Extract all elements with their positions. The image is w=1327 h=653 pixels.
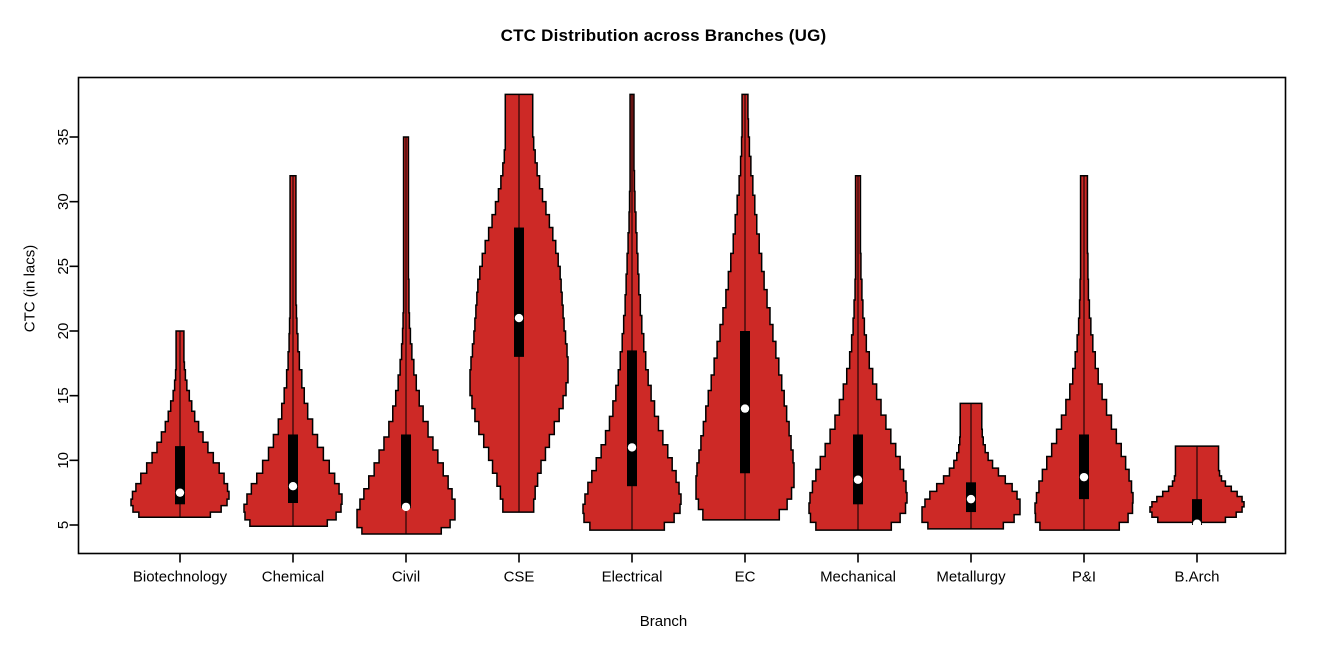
iqr-box xyxy=(288,434,298,503)
x-tick-label-ec: EC xyxy=(735,569,756,586)
median-marker xyxy=(289,482,297,490)
violin-mechanical[interactable] xyxy=(809,176,907,530)
x-tick-label-mechanical: Mechanical xyxy=(820,569,896,586)
violin-b-arch[interactable] xyxy=(1150,446,1244,528)
x-tick-label-biotechnology: Biotechnology xyxy=(133,569,228,586)
violin-ec[interactable] xyxy=(696,94,794,520)
violin-civil[interactable] xyxy=(357,137,455,534)
violin-cse[interactable] xyxy=(470,94,568,512)
y-tick-label: 5 xyxy=(55,521,72,529)
y-tick-label: 15 xyxy=(55,387,72,404)
violins-group xyxy=(131,94,1244,534)
x-tick-label-p-i: P&I xyxy=(1072,569,1096,586)
x-axis: BiotechnologyChemicalCivilCSEElectricalE… xyxy=(133,554,1220,586)
y-tick-label: 30 xyxy=(55,193,72,210)
iqr-box xyxy=(627,350,637,486)
median-marker xyxy=(1080,473,1088,481)
iqr-box xyxy=(853,434,863,504)
median-marker xyxy=(967,495,975,503)
violin-metallurgy[interactable] xyxy=(922,403,1020,528)
median-marker xyxy=(1193,520,1201,528)
x-tick-label-chemical: Chemical xyxy=(262,569,325,586)
x-tick-label-metallurgy: Metallurgy xyxy=(936,569,1006,586)
iqr-box xyxy=(514,228,524,357)
median-marker xyxy=(402,503,410,511)
violin-chart: 5101520253035 BiotechnologyChemicalCivil… xyxy=(0,0,1327,653)
x-tick-label-cse: CSE xyxy=(504,569,535,586)
x-tick-label-electrical: Electrical xyxy=(602,569,663,586)
x-tick-label-civil: Civil xyxy=(392,569,420,586)
median-marker xyxy=(741,404,749,412)
y-tick-label: 25 xyxy=(55,258,72,275)
violin-electrical[interactable] xyxy=(583,94,681,530)
violin-chemical[interactable] xyxy=(244,176,342,526)
y-tick-label: 20 xyxy=(55,323,72,340)
y-axis: 5101520253035 xyxy=(55,129,79,530)
median-marker xyxy=(515,314,523,322)
iqr-box xyxy=(1079,434,1089,499)
x-tick-label-b-arch: B.Arch xyxy=(1174,569,1219,586)
x-axis-label: Branch xyxy=(0,613,1327,630)
median-marker xyxy=(854,476,862,484)
iqr-box xyxy=(740,331,750,473)
violin-plot-page: CTC Distribution across Branches (UG) CT… xyxy=(0,0,1327,653)
iqr-box xyxy=(401,434,411,508)
median-marker xyxy=(176,488,184,496)
violin-p-i[interactable] xyxy=(1035,176,1133,530)
violin-biotechnology[interactable] xyxy=(131,331,229,517)
median-marker xyxy=(628,443,636,451)
y-tick-label: 10 xyxy=(55,452,72,469)
y-tick-label: 35 xyxy=(55,129,72,146)
